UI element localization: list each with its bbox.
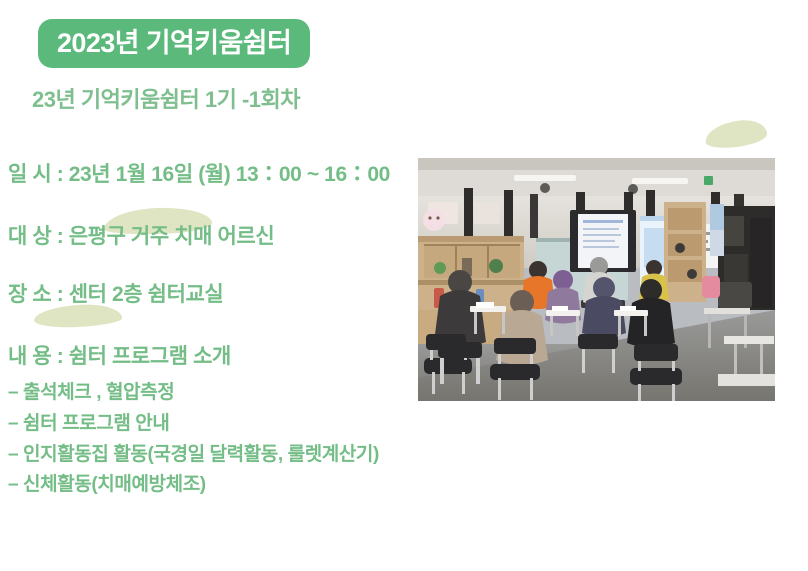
list-item: – 인지활동집 활동(국경일 달력활동, 룰렛계산기)	[8, 440, 379, 471]
list-item: – 신체활동(치매예방체조)	[8, 470, 379, 501]
title-badge: 2023년 기억키움쉼터	[38, 19, 310, 68]
detail-target-audience: 대 상 : 은평구 거주 치매 어르신	[8, 220, 274, 250]
detail-datetime: 일 시 : 23년 1월 16일 (월) 13：00 ~ 16：00	[8, 158, 390, 188]
detail-location: 장 소 : 센터 2층 쉼터교실	[8, 278, 223, 308]
decorative-blob-top-right	[704, 118, 768, 150]
content-heading: 내 용 : 쉼터 프로그램 소개	[8, 340, 231, 370]
activity-photo-image	[418, 158, 775, 401]
activity-photo	[418, 158, 775, 401]
content-list: – 출석체크 , 혈압측정 – 쉼터 프로그램 안내 – 인지활동집 활동(국경…	[8, 378, 379, 501]
page-subtitle: 23년 기억키움쉼터 1기 -1회차	[32, 82, 300, 114]
list-item: – 쉼터 프로그램 안내	[8, 409, 379, 440]
list-item: – 출석체크 , 혈압측정	[8, 378, 379, 409]
page-title: 2023년 기억키움쉼터	[57, 30, 291, 57]
poster-page: 2023년 기억키움쉼터 23년 기억키움쉼터 1기 -1회차 일 시 : 23…	[0, 0, 808, 571]
